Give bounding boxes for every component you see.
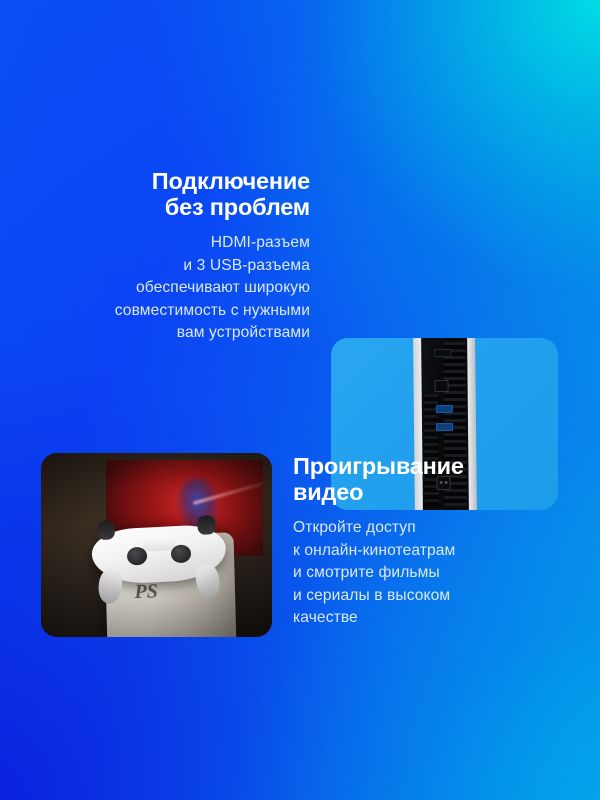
usb-port-icon xyxy=(435,405,452,413)
connection-text-block: Подключение без проблем HDMI-разъем и 3 … xyxy=(40,168,310,345)
hdmi-port-icon xyxy=(434,349,451,357)
ethernet-port-icon xyxy=(434,380,448,392)
section-video-playback: PS Проигрывание видео Откройте доступ к … xyxy=(0,453,600,643)
dualsense-controller-photo: PS xyxy=(41,453,272,637)
connection-headline: Подключение без проблем xyxy=(40,168,310,220)
video-body-text: Откройте доступ к онлайн-кинотеатрам и с… xyxy=(293,505,565,630)
video-text-block: Проигрывание видео Откройте доступ к онл… xyxy=(293,453,565,630)
video-headline: Проигрывание видео xyxy=(293,453,565,505)
usb-port-icon xyxy=(435,423,452,431)
promo-page: Подключение без проблем HDMI-разъем и 3 … xyxy=(0,0,600,800)
photo-vignette xyxy=(41,453,272,637)
connection-body-text: HDMI-разъем и 3 USB-разъема обеспечивают… xyxy=(40,220,310,345)
section-connection: Подключение без проблем HDMI-разъем и 3 … xyxy=(0,168,600,348)
